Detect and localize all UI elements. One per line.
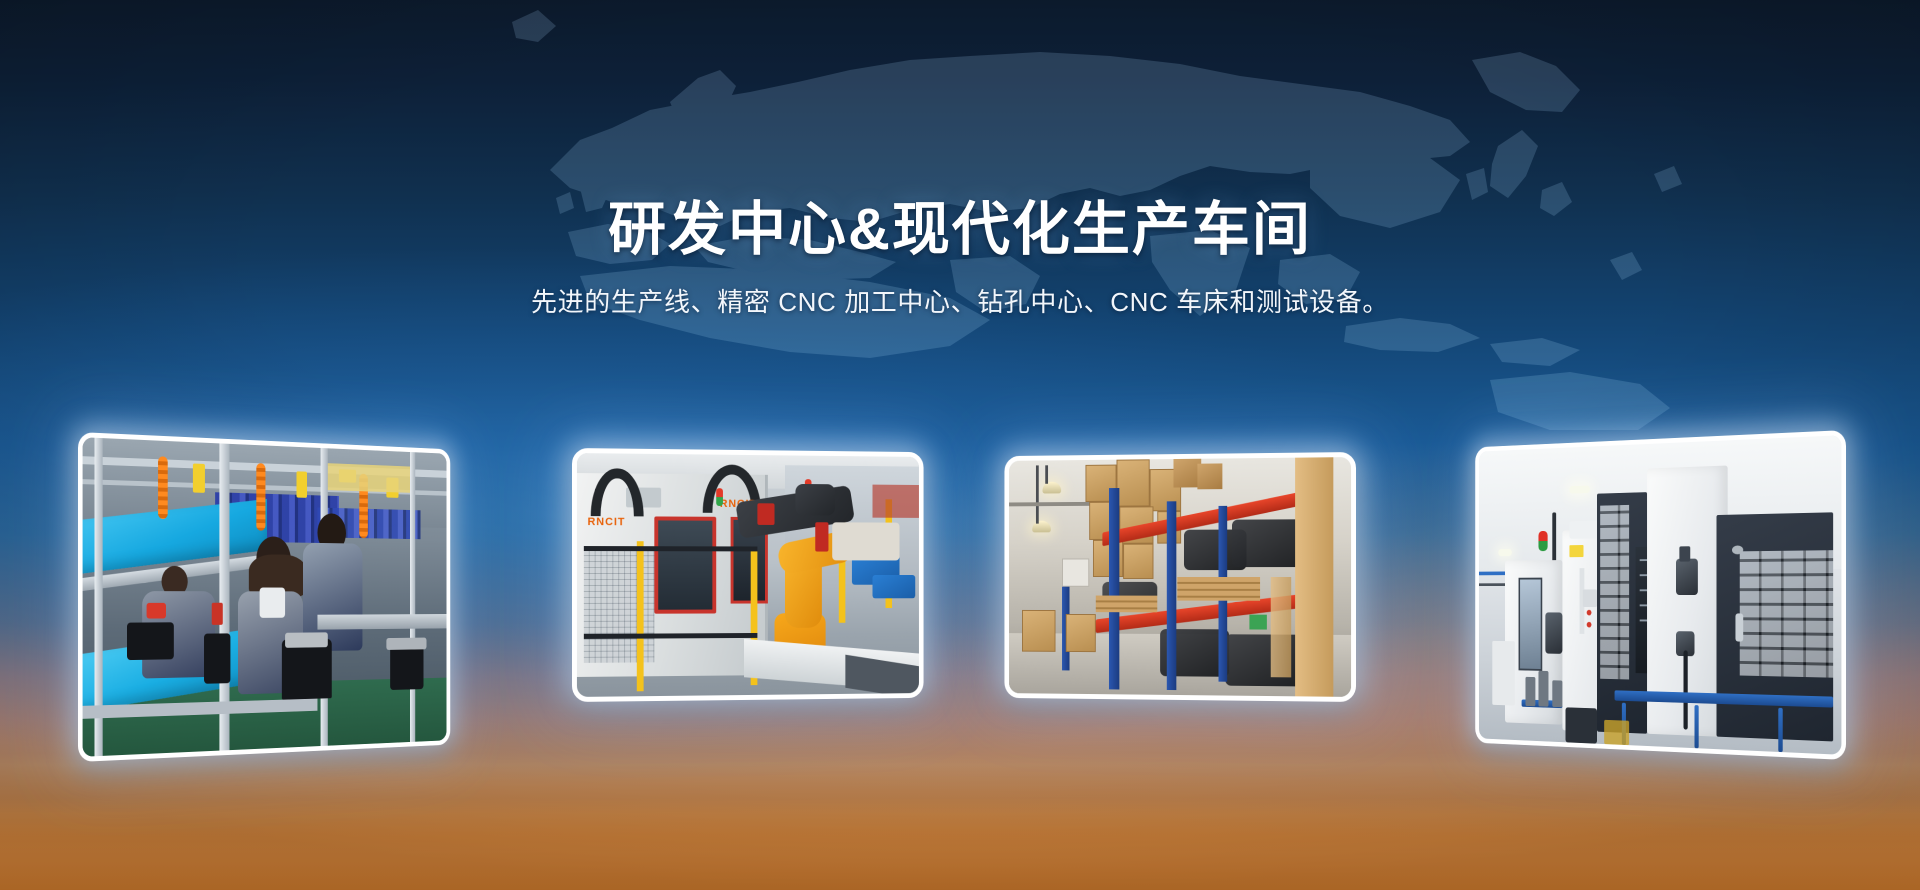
hero-heading-block: 研发中心&现代化生产车间 先进的生产线、精密 CNC 加工中心、钻孔中心、CNC…: [0, 196, 1920, 319]
gallery-panel-machine-shop[interactable]: [1475, 430, 1846, 760]
page-title: 研发中心&现代化生产车间: [0, 196, 1920, 264]
machine-brand-label-left: RNCIT: [588, 517, 626, 529]
warehouse-photo: [1009, 457, 1351, 697]
page-subtitle: 先进的生产线、精密 CNC 加工中心、钻孔中心、CNC 车床和测试设备。: [0, 282, 1920, 319]
hero-banner: 研发中心&现代化生产车间 先进的生产线、精密 CNC 加工中心、钻孔中心、CNC…: [0, 0, 1920, 890]
machine-shop-photo: [1479, 435, 1841, 755]
gallery-panel-warehouse[interactable]: [1004, 452, 1356, 702]
gallery-panel-cnc-robot[interactable]: RNCIT RNCIT: [572, 448, 924, 702]
gallery-panel-assembly-line[interactable]: [78, 432, 450, 762]
cnc-robot-photo: RNCIT RNCIT: [577, 453, 919, 697]
assembly-line-photo: [83, 437, 447, 757]
image-carousel[interactable]: RNCIT RNCIT: [0, 0, 1920, 890]
